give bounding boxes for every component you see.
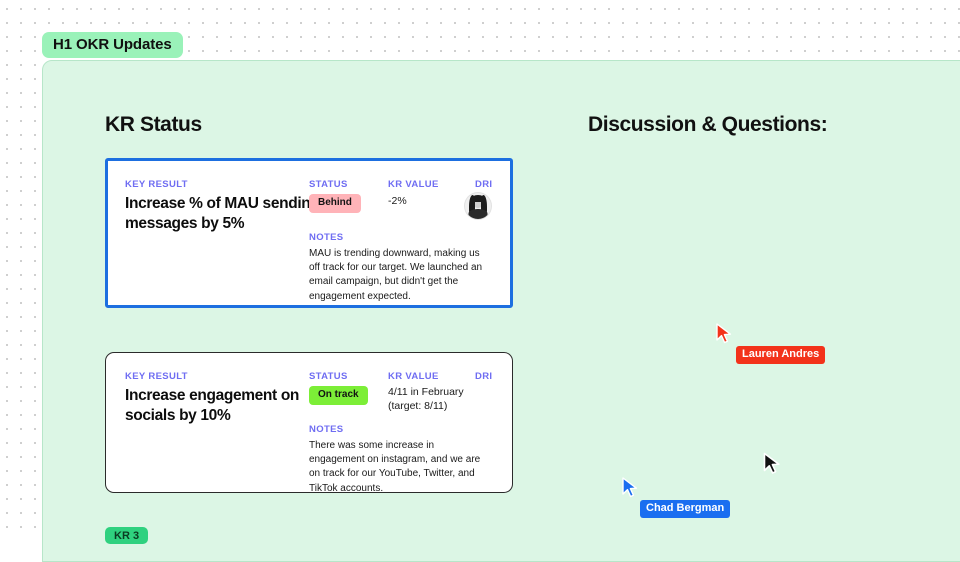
discussion-questions-heading: Discussion & Questions: (588, 113, 827, 137)
kr-title-2: Increase engagement on socials by 10% (125, 386, 325, 426)
kr-card-1[interactable]: KEY RESULT Increase % of MAU sending mes… (105, 158, 513, 308)
label-kr-value-2: KR VALUE (388, 371, 439, 382)
kr-card-2[interactable]: KEY RESULT Increase engagement on social… (105, 352, 513, 493)
label-status-2: STATUS (309, 371, 348, 382)
okr-board-panel: KR Status Discussion & Questions: KEY RE… (42, 60, 960, 562)
label-notes-1: NOTES (309, 232, 343, 243)
cursor-arrow-icon (715, 323, 733, 345)
status-badge-2[interactable]: On track (309, 386, 368, 405)
label-notes-2: NOTES (309, 424, 343, 435)
label-dri-2: DRI (475, 371, 492, 382)
kr-status-heading: KR Status (105, 113, 202, 137)
status-badge-1[interactable]: Behind (309, 194, 361, 213)
avatar[interactable] (465, 193, 491, 219)
mouse-pointer-icon (762, 452, 782, 476)
label-dri-1: DRI (475, 179, 492, 190)
notes-text-1: MAU is trending downward, making us off … (309, 247, 489, 304)
kr-value-2: 4/11 in February (target: 8/11) (388, 386, 483, 414)
label-status-1: STATUS (309, 179, 348, 190)
label-key-result-2: KEY RESULT (125, 371, 188, 382)
cursor-arrow-icon (621, 477, 639, 499)
cursor-label-chad: Chad Bergman (640, 500, 730, 518)
label-kr-value-1: KR VALUE (388, 179, 439, 190)
board-title-chip[interactable]: H1 OKR Updates (42, 32, 183, 58)
notes-text-2: There was some increase in engagement on… (309, 439, 489, 496)
kr-3-chip[interactable]: KR 3 (105, 527, 148, 544)
label-key-result-1: KEY RESULT (125, 179, 188, 190)
cursor-label-lauren: Lauren Andres (736, 346, 825, 364)
kr-title-1: Increase % of MAU sending messages by 5% (125, 194, 325, 234)
